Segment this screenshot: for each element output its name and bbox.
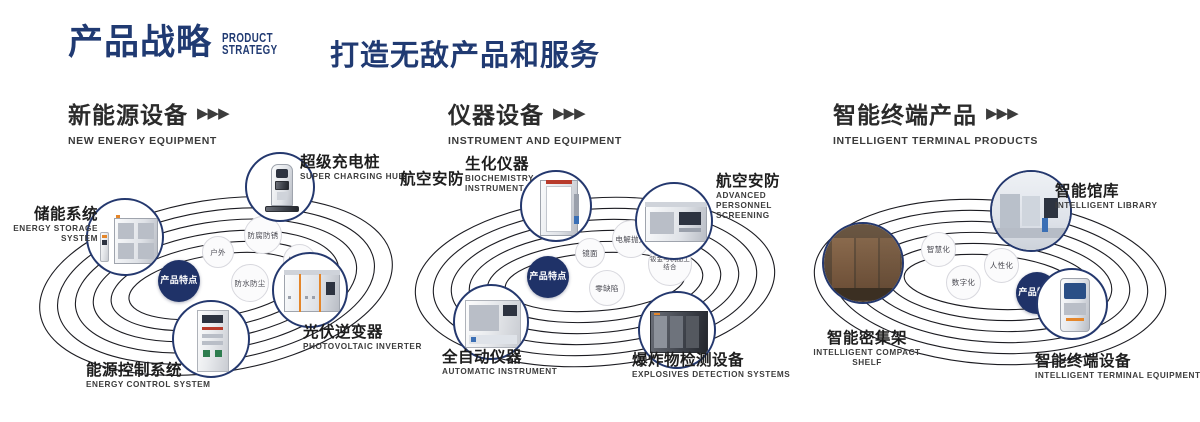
page-subtitle: 打造无敌产品和服务 bbox=[330, 32, 600, 74]
feature-core-bubble: 产品特点 bbox=[527, 256, 569, 298]
product-label-energy-control-system: 能源控制系统 ENERGY CONTROL SYSTEM bbox=[86, 361, 211, 390]
feature-core-label: 产品特点 bbox=[529, 272, 566, 283]
product-label-super-charging-hub: 超级充电桩 SUPER CHARGING HUB bbox=[300, 153, 405, 182]
product-name-cn: 智能密集架 bbox=[812, 329, 922, 347]
product-name-cn: 爆炸物检测设备 bbox=[632, 351, 790, 369]
product-label-biochemistry-instrument: 生化仪器 BIOCHEMISTRY INSTRUMENT bbox=[465, 155, 549, 194]
product-name-cn: 航空安防 bbox=[400, 170, 464, 188]
feature-bubble: 智慧化 bbox=[921, 232, 956, 267]
title-chinese: 产品战略 bbox=[68, 26, 212, 61]
section-title-en: NEW ENERGY EQUIPMENT bbox=[68, 135, 229, 147]
chevron-right-icon: ▶▶▶ bbox=[197, 106, 229, 121]
section-header-new-energy: 新能源设备 ▶▶▶ NEW ENERGY EQUIPMENT bbox=[68, 96, 229, 147]
chevron-right-icon: ▶▶▶ bbox=[553, 106, 585, 121]
feature-bubble: 零缺陷 bbox=[589, 270, 625, 306]
product-strategy-infographic: 产品战略 PRODUCT STRATEGY 打造无敌产品和服务 新能源设备 ▶▶… bbox=[0, 0, 1200, 422]
feature-bubble: 人性化 bbox=[984, 248, 1019, 283]
product-name-en: SUPER CHARGING HUB bbox=[300, 172, 405, 182]
section-title-cn: 新能源设备 bbox=[68, 96, 188, 130]
product-name-en: ENERGY STORAGE SYSTEM bbox=[0, 224, 98, 244]
page-title: 产品战略 PRODUCT STRATEGY bbox=[68, 26, 293, 61]
feature-label: 智慧化 bbox=[927, 245, 950, 254]
product-name-cn: 航空安防 bbox=[716, 172, 808, 190]
feature-label: 零缺陷 bbox=[595, 284, 618, 293]
product-label-terminal-equipment: 智能终端设备 INTELLIGENT TERMINAL EQUIPMENT bbox=[1035, 352, 1200, 381]
product-photo-screening-machine[interactable] bbox=[635, 182, 713, 260]
cluster-instrument: 产品特点 镜面 电解抛光 钣金与机加工结合 零缺陷 bbox=[405, 160, 805, 410]
feature-label: 防腐防锈 bbox=[247, 231, 278, 240]
product-name-en: ADVANCED PERSONNEL SCREENING bbox=[716, 191, 808, 221]
chevron-right-icon: ▶▶▶ bbox=[986, 106, 1018, 121]
product-name-cn: 智能终端设备 bbox=[1035, 352, 1200, 370]
section-title-en: INTELLIGENT TERMINAL PRODUCTS bbox=[833, 135, 1038, 147]
feature-label: 人性化 bbox=[990, 261, 1013, 270]
product-photo-terminal-kiosk[interactable] bbox=[1036, 268, 1108, 340]
product-name-en: INTELLIGENT TERMINAL EQUIPMENT bbox=[1035, 371, 1200, 381]
section-title-cn: 智能终端产品 bbox=[833, 96, 977, 130]
feature-bubble: 数字化 bbox=[946, 265, 981, 300]
feature-label: 户外 bbox=[210, 248, 226, 257]
feature-bubble: 防水防尘 bbox=[231, 264, 269, 302]
product-label-energy-storage: 储能系统 ENERGY STORAGE SYSTEM bbox=[0, 205, 98, 244]
product-name-cn: 能源控制系统 bbox=[86, 361, 211, 379]
product-label-explosives-detection: 爆炸物检测设备 EXPLOSIVES DETECTION SYSTEMS bbox=[632, 351, 790, 380]
feature-core-bubble: 产品特点 bbox=[158, 260, 200, 302]
product-name-en: EXPLOSIVES DETECTION SYSTEMS bbox=[632, 370, 790, 380]
cluster-intelligent-terminal: 产品特点 智慧化 人性化 数字化 bbox=[800, 160, 1200, 410]
product-name-cn: 储能系统 bbox=[0, 205, 98, 223]
product-name-en: INTELLIGENT LIBRARY bbox=[1055, 201, 1157, 211]
product-name-en: BIOCHEMISTRY INSTRUMENT bbox=[465, 174, 549, 194]
product-photo-photovoltaic-inverter[interactable] bbox=[272, 252, 348, 328]
product-name-cn: 超级充电桩 bbox=[300, 153, 405, 171]
product-name-cn: 生化仪器 bbox=[465, 155, 549, 173]
feature-label: 镜面 bbox=[582, 249, 598, 258]
title-english: PRODUCT STRATEGY bbox=[222, 32, 277, 56]
feature-bubble: 镜面 bbox=[575, 238, 605, 268]
feature-label: 防水防尘 bbox=[234, 279, 265, 288]
product-name-en: AUTOMATIC INSTRUMENT bbox=[442, 367, 557, 377]
product-label-automatic-instrument: 全自动仪器 AUTOMATIC INSTRUMENT bbox=[442, 348, 557, 377]
product-label-advanced-screening: 航空安防 ADVANCED PERSONNEL SCREENING bbox=[716, 172, 808, 221]
cluster-new-energy: 产品特点 户外 防腐防锈 防水防尘 气密性 bbox=[20, 160, 420, 410]
product-label-compact-shelf: 智能密集架 INTELLIGENT COMPACT SHELF bbox=[812, 329, 922, 368]
feature-core-label: 产品特点 bbox=[160, 276, 197, 287]
feature-label: 数字化 bbox=[952, 278, 975, 287]
feature-bubble: 户外 bbox=[202, 236, 234, 268]
title-english-line2: STRATEGY bbox=[222, 44, 277, 56]
section-header-instrument: 仪器设备 ▶▶▶ INSTRUMENT AND EQUIPMENT bbox=[448, 96, 622, 147]
product-name-cn: 智能馆库 bbox=[1055, 182, 1157, 200]
product-label-intelligent-library: 智能馆库 INTELLIGENT LIBRARY bbox=[1055, 182, 1157, 211]
product-name-en: INTELLIGENT COMPACT SHELF bbox=[812, 348, 922, 368]
product-photo-compact-shelf[interactable] bbox=[822, 222, 904, 304]
product-label-security-gate: 航空安防 bbox=[400, 170, 464, 188]
product-name-en: ENERGY CONTROL SYSTEM bbox=[86, 380, 211, 390]
product-name-cn: 全自动仪器 bbox=[442, 348, 557, 366]
section-title-cn: 仪器设备 bbox=[448, 96, 544, 130]
section-title-en: INSTRUMENT AND EQUIPMENT bbox=[448, 135, 622, 147]
section-header-intelligent-terminal: 智能终端产品 ▶▶▶ INTELLIGENT TERMINAL PRODUCTS bbox=[833, 96, 1038, 147]
